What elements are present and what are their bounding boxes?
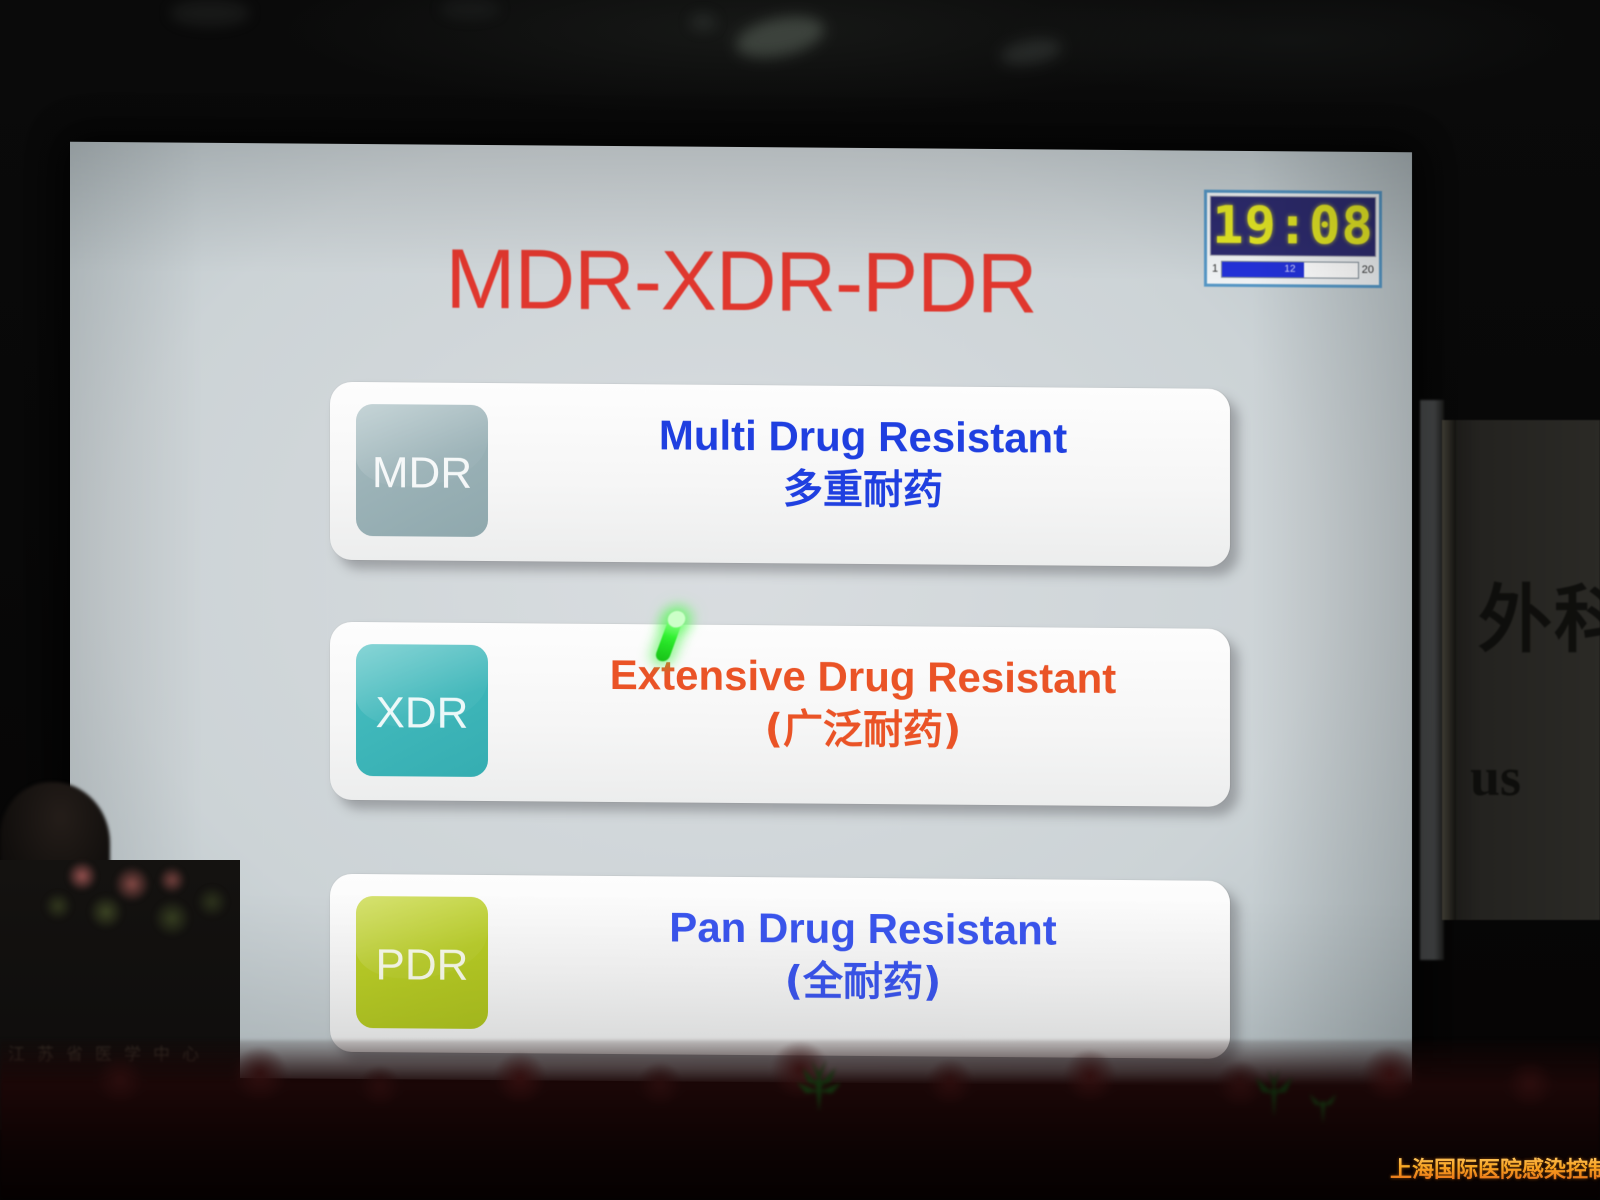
banner-english-text: us	[1470, 746, 1521, 808]
foreground-foliage	[0, 1040, 1600, 1200]
presentation-timer-widget: 19:08 1 12 20	[1204, 190, 1382, 288]
timer-digits: 19:08	[1212, 196, 1374, 257]
acronym-tile-label: MDR	[356, 448, 488, 499]
definition-english: Multi Drug Resistant	[520, 409, 1206, 464]
banner-chinese-text: 外科	[1478, 560, 1600, 667]
timer-max-label: 20	[1362, 264, 1374, 276]
conference-photo-scene: 外科 us MDR-XDR-PDR 19:08 1 12 20 MDR	[0, 0, 1600, 1200]
acronym-tile-mdr: MDR	[356, 404, 488, 537]
acronym-tile-label: PDR	[356, 940, 488, 991]
timer-progress-value: 12	[1284, 264, 1295, 275]
definition-english: Pan Drug Resistant	[520, 901, 1206, 956]
timer-progress-track: 12	[1221, 260, 1359, 278]
definition-row-xdr: XDR Extensive Drug Resistant (广泛耐药)	[330, 622, 1230, 807]
ceiling-light-icon	[690, 14, 716, 30]
definition-chinese: (全耐药)	[520, 955, 1206, 1009]
acronym-tile-xdr: XDR	[356, 644, 488, 777]
acronym-tile-pdr: PDR	[356, 896, 488, 1029]
background-banner	[1442, 420, 1600, 920]
definition-chinese: 多重耐药	[520, 463, 1206, 517]
plant-sprig-icon	[790, 1058, 848, 1114]
acronym-tile-label: XDR	[356, 688, 488, 739]
ceiling-light-icon	[170, 0, 250, 26]
wall-edge	[1420, 400, 1444, 960]
definition-chinese: (广泛耐药)	[520, 703, 1206, 757]
timer-min-label: 1	[1212, 263, 1218, 275]
plant-sprig-icon	[1300, 1080, 1346, 1126]
ceiling-light-icon	[440, 0, 500, 18]
flower-arrangement	[22, 832, 244, 952]
banner-edge	[1442, 420, 1456, 920]
forum-watermark: 上海国际医院感染控制论坛	[1390, 1152, 1600, 1184]
timer-lcd-display: 19:08	[1210, 196, 1376, 257]
definition-text-block: Multi Drug Resistant 多重耐药	[520, 409, 1206, 517]
definition-text-block: Extensive Drug Resistant (广泛耐药)	[520, 649, 1206, 757]
plant-sprig-icon	[1245, 1064, 1303, 1120]
definition-text-block: Pan Drug Resistant (全耐药)	[520, 901, 1206, 1009]
projection-screen: MDR-XDR-PDR 19:08 1 12 20 MDR Multi	[70, 142, 1412, 1088]
definition-row-pdr: PDR Pan Drug Resistant (全耐药)	[330, 874, 1230, 1059]
definition-row-mdr: MDR Multi Drug Resistant 多重耐药	[330, 382, 1230, 567]
timer-progress-row: 1 12 20	[1210, 256, 1376, 283]
definition-english: Extensive Drug Resistant	[520, 649, 1206, 704]
